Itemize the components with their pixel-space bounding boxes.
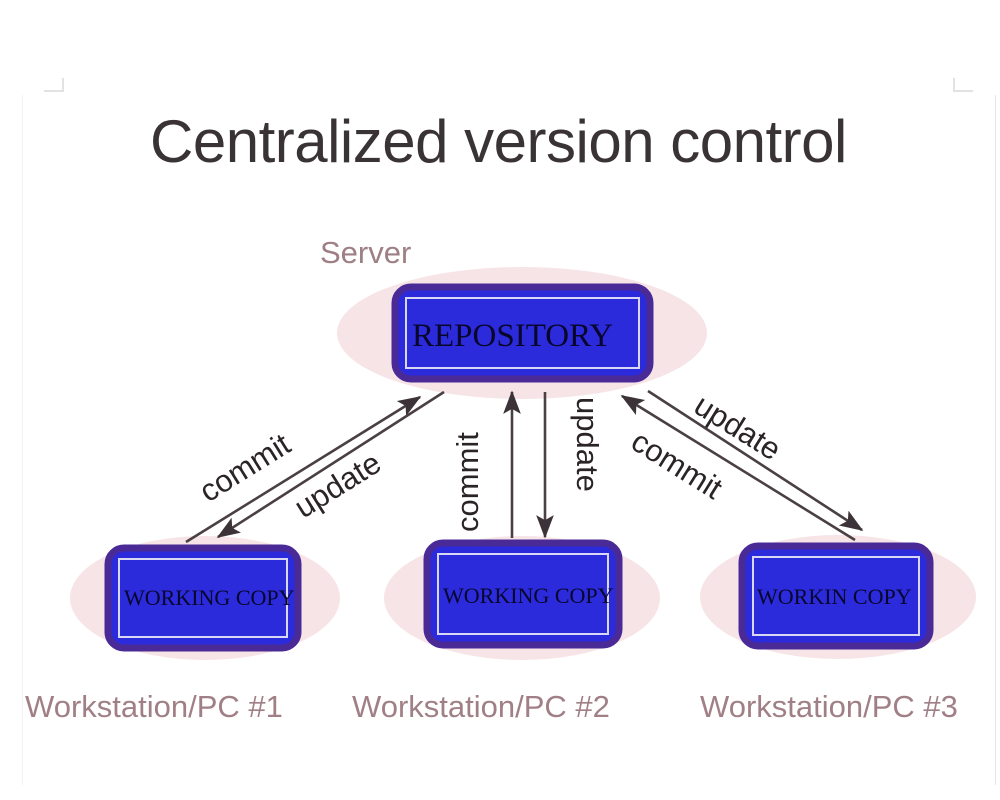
repository-label: REPOSITORY	[412, 318, 613, 354]
edge-ws2-commit-label: commit	[450, 432, 485, 532]
diagram-page: Centralized version control Server REPOS…	[0, 0, 1000, 800]
workstation-2-group: WORKING COPY Workstation/PC #2	[352, 536, 660, 724]
workstation-1-label: WORKING COPY	[124, 585, 295, 610]
edge-ws1-update-label: update	[288, 445, 387, 525]
workstation-3-node[interactable]: WORKIN COPY	[742, 546, 930, 646]
workstation-2-node[interactable]: WORKING COPY	[427, 543, 619, 645]
edge-ws3-commit-label: commit	[625, 423, 729, 506]
workstation-3-caption: Workstation/PC #3	[700, 689, 958, 724]
server-label: Server	[320, 235, 411, 270]
edge-ws2-update-label: update	[570, 397, 605, 492]
workstation-2-caption: Workstation/PC #2	[352, 689, 610, 724]
edge-ws2-update: update	[545, 392, 605, 537]
workstation-2-label: WORKING COPY	[443, 583, 614, 608]
workstation-1-node[interactable]: WORKING COPY	[108, 548, 298, 648]
workstation-1-group: WORKING COPY Workstation/PC #1	[25, 536, 340, 724]
workstation-3-label: WORKIN COPY	[757, 584, 912, 609]
page-title: Centralized version control	[150, 108, 847, 175]
server-group: Server REPOSITORY	[320, 235, 707, 399]
centralized-version-control-diagram: Centralized version control Server REPOS…	[0, 0, 1000, 800]
workstation-3-group: WORKIN COPY Workstation/PC #3	[700, 535, 976, 724]
edge-ws2-commit: commit	[450, 392, 512, 538]
workstation-1-caption: Workstation/PC #1	[25, 689, 283, 724]
repository-node[interactable]: REPOSITORY	[395, 287, 650, 379]
